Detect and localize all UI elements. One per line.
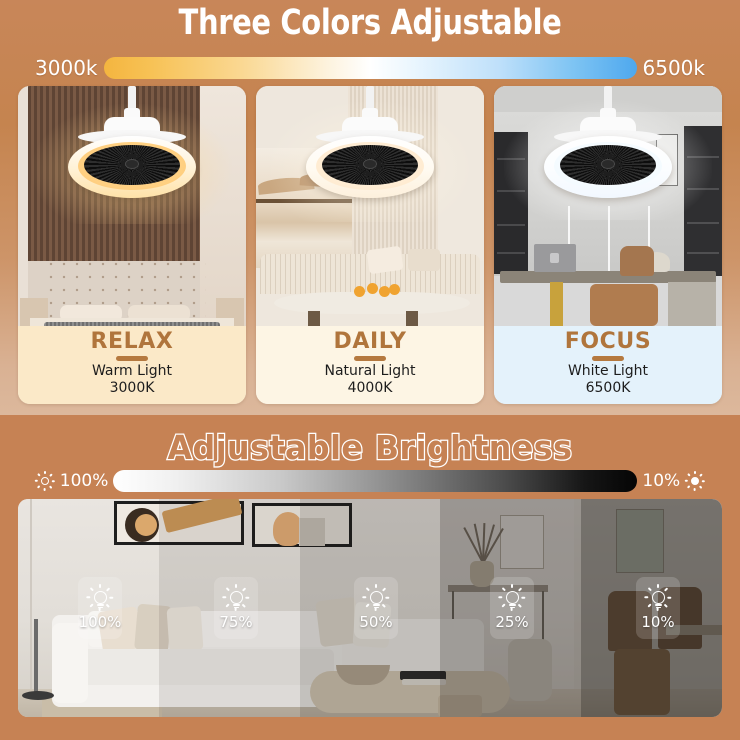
sun-ray [694,488,696,491]
card-title-focus: FOCUS [565,329,652,355]
lightbulb-icon [89,584,111,610]
laptop [534,244,576,272]
kelvin-gradient-bar [104,57,637,79]
lightbulb-icon [365,584,387,610]
card-temperature-daily: 4000K [348,380,393,397]
brightness-badge: 25% [490,577,534,639]
brightness-badge: 10% [636,577,680,639]
page-title-three-colors: Three Colors Adjustable [30,3,711,43]
sun-ray [51,480,54,482]
sun-ray [49,485,53,489]
sun-ray [49,473,53,477]
sun-ray [37,485,41,489]
card-light-type-relax: Warm Light [92,363,172,380]
brightness-right-label: 10% [642,471,680,491]
card-light-type-focus: White Light [568,363,648,380]
card-title-daily: DAILY [334,329,407,355]
color-mode-cards: RELAX Warm Light 3000K [18,86,722,404]
lightbulb-icon [501,584,523,610]
brightness-badge: 50% [354,577,398,639]
card-title-relax: RELAX [91,329,174,355]
caption-focus: FOCUS White Light 6500K [494,326,722,404]
card-divider [592,356,624,361]
adjustable-brightness-section: Adjustable Brightness 100% 10% [0,415,740,740]
sun-filled-icon [685,471,705,491]
card-divider [116,356,148,361]
lightbulb-icon [647,584,669,610]
card-divider [354,356,386,361]
brightness-percent-label: 50% [359,613,392,631]
color-card-focus[interactable]: FOCUS White Light 6500K [494,86,722,404]
photo-bedroom [18,86,246,326]
kelvin-right-label: 6500k [643,56,705,80]
brightness-badge: 100% [78,577,122,639]
sun-ray [694,471,696,474]
card-temperature-focus: 6500K [586,380,631,397]
fruit-bowl [354,286,400,297]
brightness-badges: 100%75%50%25%10% [18,499,722,717]
infographic-page: Three Colors Adjustable 3000k 6500k [0,0,740,740]
lightbulb-icon [225,584,247,610]
sun-ray [699,473,703,477]
color-card-relax[interactable]: RELAX Warm Light 3000K [18,86,246,404]
kelvin-scale: 3000k 6500k [0,52,740,84]
dimming-demo-photo: 100%75%50%25%10% [18,499,722,717]
fan-lamp-white [494,86,722,226]
brightness-left-label: 100% [60,471,109,491]
sun-ray [699,485,703,489]
kelvin-left-label: 3000k [35,56,97,80]
three-colors-section: Three Colors Adjustable 3000k 6500k [0,0,740,415]
page-title-adjustable-brightness: Adjustable Brightness [15,428,725,467]
card-temperature-relax: 3000K [110,380,155,397]
brightness-scale: 100% 10% [0,466,740,496]
color-card-daily[interactable]: DAILY Natural Light 4000K [256,86,484,404]
sun-ray [702,480,705,482]
brightness-gradient-bar [113,470,637,492]
brightness-percent-label: 100% [79,613,122,631]
caption-daily: DAILY Natural Light 4000K [256,326,484,404]
sun-ray [44,471,46,474]
sun-ray [685,480,688,482]
caption-relax: RELAX Warm Light 3000K [18,326,246,404]
sun-ray [688,473,692,477]
fan-lamp-natural [256,86,484,226]
sun-ray [44,488,46,491]
brightness-percent-label: 10% [641,613,674,631]
brightness-badge: 75% [214,577,258,639]
sun-ray [35,480,38,482]
card-light-type-daily: Natural Light [324,363,415,380]
fan-lamp-warm [18,86,246,226]
sun-outline-icon [35,471,55,491]
brightness-percent-label: 25% [495,613,528,631]
sun-ray [688,485,692,489]
photo-office [494,86,722,326]
sun-ray [37,473,41,477]
brightness-percent-label: 75% [219,613,252,631]
photo-living-room [256,86,484,326]
